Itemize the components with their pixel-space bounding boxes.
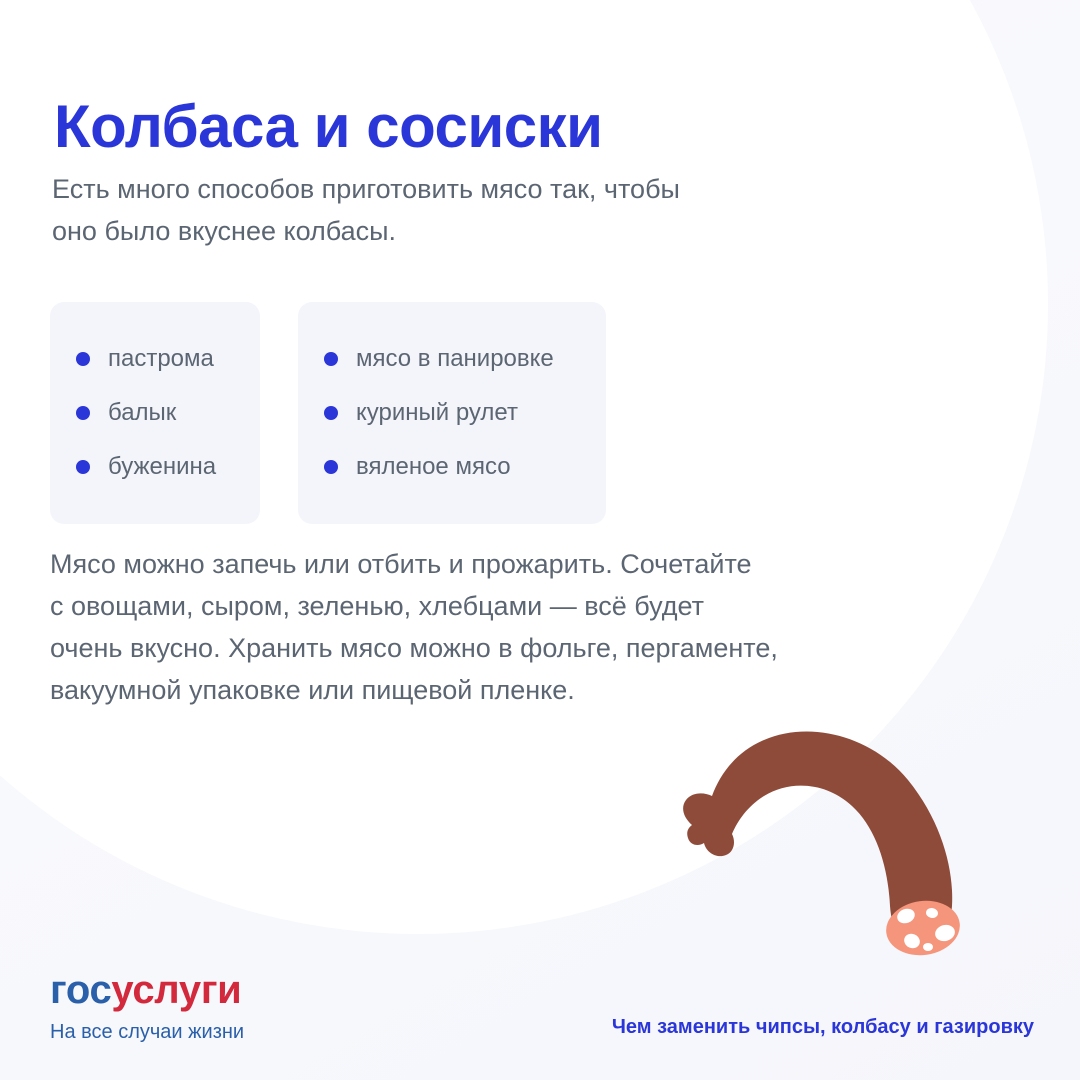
list-item-label: куриный рулет — [356, 399, 518, 427]
logo-tagline: На все случаи жизни — [50, 1020, 244, 1044]
body-paragraph: Мясо можно запечь или отбить и прожарить… — [50, 543, 950, 711]
logo-wordmark: госуслуги — [50, 968, 244, 1012]
fat-speck-icon — [923, 943, 933, 951]
bullet-icon — [324, 352, 338, 366]
list-item: вяленое мясо — [324, 440, 572, 494]
logo-segment-red: услуги — [111, 968, 241, 1012]
footer-caption: Чем заменить чипсы, колбасу и газировку — [612, 1014, 1034, 1040]
bullet-icon — [76, 406, 90, 420]
gosuslugi-logo: госуслуги На все случаи жизни — [50, 968, 244, 1044]
list-panel-left: пастрома балык буженина — [50, 302, 260, 524]
list-item: балык — [76, 386, 226, 440]
bullet-icon — [76, 460, 90, 474]
body-line: очень вкусно. Хранить мясо можно в фольг… — [50, 627, 950, 669]
bullet-icon — [324, 406, 338, 420]
poster-content: Колбаса и сосиски Есть много способов пр… — [0, 0, 1080, 1080]
list-panels-group: пастрома балык буженина мясо в панировке — [50, 302, 606, 524]
poster-canvas: Колбаса и сосиски Есть много способов пр… — [0, 0, 1080, 1080]
list-item-label: балык — [108, 399, 176, 427]
page-title: Колбаса и сосиски — [54, 93, 954, 161]
intro-line: Есть много способов приготовить мясо так… — [52, 168, 852, 210]
bullet-icon — [76, 352, 90, 366]
list-item: буженина — [76, 440, 226, 494]
body-line: Мясо можно запечь или отбить и прожарить… — [50, 543, 950, 585]
list-item-label: мясо в панировке — [356, 345, 554, 373]
list-item: мясо в панировке — [324, 332, 572, 386]
list-item: пастрома — [76, 332, 226, 386]
list-panel-right: мясо в панировке куриный рулет вяленое м… — [298, 302, 606, 524]
intro-paragraph: Есть много способов приготовить мясо так… — [52, 168, 852, 252]
list-item-label: вяленое мясо — [356, 453, 511, 481]
logo-segment-blue: гос — [50, 968, 111, 1012]
list-item: куриный рулет — [324, 386, 572, 440]
sausage-illustration — [640, 700, 1040, 980]
body-line: с овощами, сыром, зеленью, хлебцами — вс… — [50, 585, 950, 627]
list-item-label: пастрома — [108, 345, 214, 373]
intro-line: оно было вкуснее колбасы. — [52, 210, 852, 252]
bullet-icon — [324, 460, 338, 474]
list-item-label: буженина — [108, 453, 216, 481]
